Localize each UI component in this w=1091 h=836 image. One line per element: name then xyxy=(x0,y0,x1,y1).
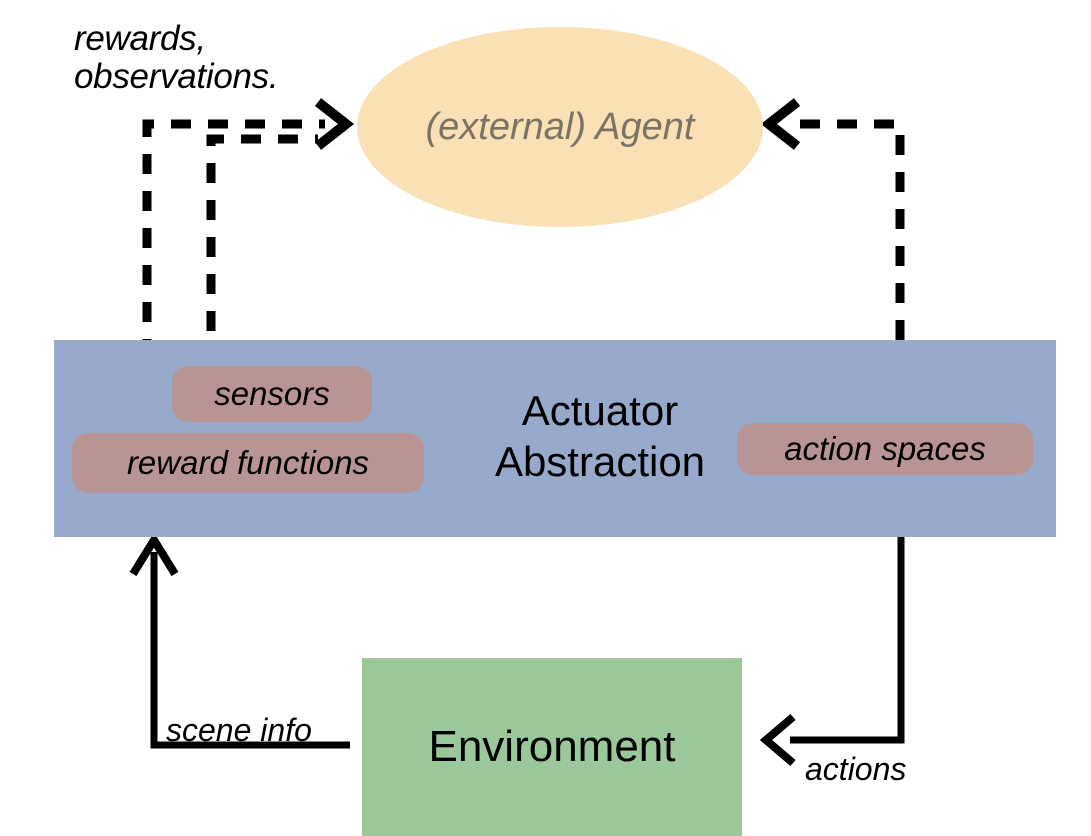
actuator-abstraction-title: Actuator Abstraction xyxy=(470,385,730,487)
edge-label-rewards-observations: rewards, observations. xyxy=(74,20,278,96)
pill-action-spaces-label: action spaces xyxy=(784,430,986,468)
external-agent-label: (external) Agent xyxy=(357,27,763,227)
pill-action-spaces[interactable]: action spaces xyxy=(737,423,1033,475)
diagram-canvas: Actuator Abstraction sensors reward func… xyxy=(0,0,1091,836)
edge-sensors-to-agent xyxy=(211,139,318,368)
pill-reward-functions[interactable]: reward functions xyxy=(72,433,424,493)
pill-sensors[interactable]: sensors xyxy=(172,366,372,422)
edge-label-scene-info: scene info xyxy=(166,713,312,748)
environment-label: Environment xyxy=(362,658,742,836)
edge-label-actions: actions xyxy=(805,752,906,787)
pill-reward-functions-label: reward functions xyxy=(127,444,369,482)
pill-sensors-label: sensors xyxy=(214,375,330,413)
